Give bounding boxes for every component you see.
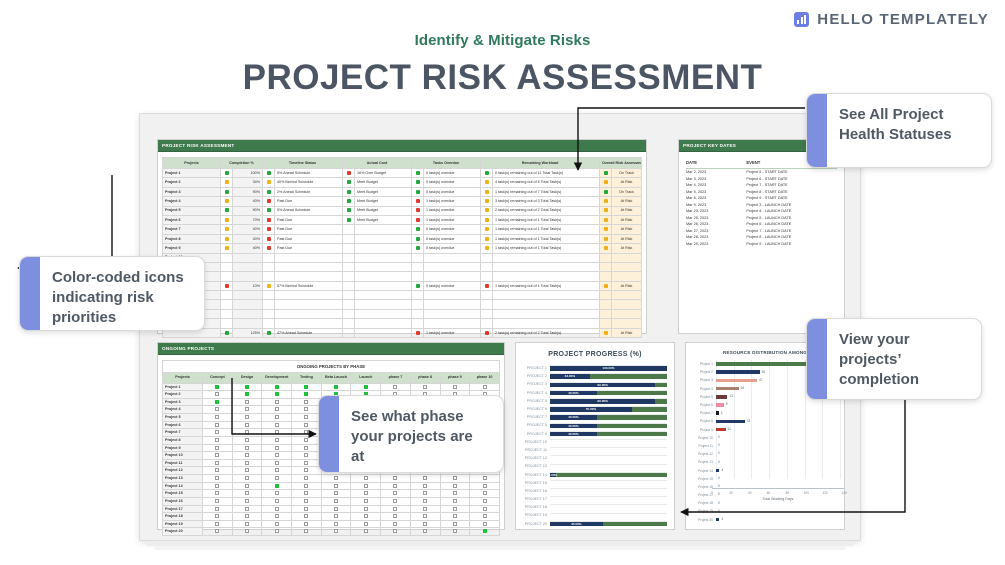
table-row[interactable]	[163, 300, 642, 309]
checkbox-icon[interactable]	[334, 522, 338, 526]
phase-checkbox-cell[interactable]	[262, 497, 292, 505]
phase-checkbox-cell[interactable]	[351, 383, 381, 391]
checkbox-icon[interactable]	[245, 476, 249, 480]
phase-checkbox-cell[interactable]	[440, 497, 470, 505]
checkbox-icon[interactable]	[215, 438, 219, 442]
phase-checkbox-cell[interactable]	[203, 482, 233, 490]
phase-checkbox-cell[interactable]	[410, 383, 440, 391]
phase-checkbox-cell[interactable]	[262, 459, 292, 467]
table-row[interactable]	[163, 291, 642, 300]
checkbox-icon[interactable]	[304, 529, 308, 533]
phase-checkbox-cell[interactable]	[262, 490, 292, 498]
checkbox-icon[interactable]	[215, 461, 219, 465]
phase-checkbox-cell[interactable]	[203, 497, 233, 505]
checkbox-icon[interactable]	[364, 385, 368, 389]
checkbox-icon[interactable]	[393, 507, 397, 511]
checkbox-icon[interactable]	[275, 385, 279, 389]
phase-checkbox-cell[interactable]	[321, 497, 351, 505]
checkbox-icon[interactable]	[393, 514, 397, 518]
phase-checkbox-cell[interactable]	[262, 513, 292, 521]
checkbox-icon[interactable]	[245, 400, 249, 404]
phase-checkbox-cell[interactable]	[351, 505, 381, 513]
phase-checkbox-cell[interactable]	[470, 482, 500, 490]
checkbox-icon[interactable]	[483, 507, 487, 511]
phase-checkbox-cell[interactable]	[232, 482, 262, 490]
checkbox-icon[interactable]	[215, 392, 219, 396]
table-row[interactable]: 125%47% Ahead Schedule1 task(s) overdue2…	[163, 328, 642, 337]
table-row[interactable]	[163, 272, 642, 281]
phase-checkbox-cell[interactable]	[232, 490, 262, 498]
phase-checkbox-cell[interactable]	[440, 383, 470, 391]
checkbox-icon[interactable]	[334, 507, 338, 511]
phase-checkbox-cell[interactable]	[470, 513, 500, 521]
checkbox-icon[interactable]	[275, 438, 279, 442]
phase-checkbox-cell[interactable]	[470, 383, 500, 391]
checkbox-icon[interactable]	[453, 491, 457, 495]
phase-checkbox-cell[interactable]	[262, 414, 292, 422]
table-row[interactable]: Project 440%Past DueMeet Budget1 task(s)…	[163, 197, 642, 206]
table-row[interactable]: Project 20	[163, 528, 500, 536]
phase-checkbox-cell[interactable]	[440, 505, 470, 513]
phase-checkbox-cell[interactable]	[410, 482, 440, 490]
checkbox-icon[interactable]	[334, 385, 338, 389]
phase-checkbox-cell[interactable]	[232, 436, 262, 444]
checkbox-icon[interactable]	[304, 461, 308, 465]
phase-checkbox-cell[interactable]	[232, 475, 262, 483]
cell-cost	[355, 309, 412, 318]
phase-checkbox-cell[interactable]	[381, 513, 411, 521]
phase-checkbox-cell[interactable]	[232, 452, 262, 460]
checkbox-icon[interactable]	[304, 476, 308, 480]
phase-checkbox-cell[interactable]	[232, 429, 262, 437]
phase-checkbox-cell[interactable]	[262, 528, 292, 536]
checkbox-icon[interactable]	[275, 468, 279, 472]
phase-checkbox-cell[interactable]	[321, 490, 351, 498]
checkbox-icon[interactable]	[275, 407, 279, 411]
checkbox-icon[interactable]	[334, 514, 338, 518]
cell-timeline: 57% Behind Schedule	[275, 281, 343, 290]
checkbox-icon[interactable]	[423, 484, 427, 488]
checkbox-icon[interactable]	[304, 484, 308, 488]
phase-checkbox-cell[interactable]	[321, 383, 351, 391]
table-row[interactable]: Project 670%Past DueMeet Budget1 task(s)…	[163, 215, 642, 224]
phase-checkbox-cell[interactable]	[262, 452, 292, 460]
phase-checkbox-cell[interactable]	[262, 406, 292, 414]
phase-checkbox-cell[interactable]	[381, 528, 411, 536]
table-row[interactable]: 10%57% Behind Schedule0 task(s) overdue1…	[163, 281, 642, 290]
checkbox-icon[interactable]	[275, 522, 279, 526]
checkbox-icon[interactable]	[423, 476, 427, 480]
phase-checkbox-cell[interactable]	[321, 505, 351, 513]
checkbox-icon[interactable]	[423, 491, 427, 495]
phase-checkbox-cell[interactable]	[440, 528, 470, 536]
phase-checkbox-cell[interactable]	[232, 444, 262, 452]
phase-checkbox-cell[interactable]	[203, 467, 233, 475]
phase-checkbox-cell[interactable]	[470, 475, 500, 483]
phase-checkbox-cell[interactable]	[440, 520, 470, 528]
checkbox-icon[interactable]	[423, 522, 427, 526]
table-row[interactable]: Project 10	[163, 253, 642, 262]
phase-checkbox-cell[interactable]	[292, 467, 322, 475]
phase-checkbox-cell[interactable]	[203, 429, 233, 437]
table-row[interactable]: Project 17	[163, 505, 500, 513]
checkbox-icon[interactable]	[215, 507, 219, 511]
checkbox-icon[interactable]	[304, 438, 308, 442]
phase-checkbox-cell[interactable]	[262, 421, 292, 429]
phase-checkbox-cell[interactable]	[232, 391, 262, 399]
checkbox-icon[interactable]	[215, 522, 219, 526]
phase-checkbox-cell[interactable]	[470, 520, 500, 528]
checkbox-icon[interactable]	[275, 430, 279, 434]
checkbox-icon[interactable]	[215, 415, 219, 419]
phase-checkbox-cell[interactable]	[203, 383, 233, 391]
phase-checkbox-cell[interactable]	[292, 505, 322, 513]
table-row[interactable]: Project 15	[163, 490, 500, 498]
checkbox-icon[interactable]	[453, 499, 457, 503]
phase-checkbox-cell[interactable]	[351, 475, 381, 483]
callout-completion: View your projects’ completion	[806, 318, 982, 400]
checkbox-icon[interactable]	[304, 446, 308, 450]
phase-checkbox-cell[interactable]	[232, 421, 262, 429]
table-row[interactable]: Project 18	[163, 513, 500, 521]
phase-checkbox-cell[interactable]	[292, 490, 322, 498]
checkbox-icon[interactable]	[483, 514, 487, 518]
checkbox-icon[interactable]	[245, 453, 249, 457]
phase-checkbox-cell[interactable]	[262, 475, 292, 483]
table-row[interactable]: Project 13	[163, 475, 500, 483]
checkbox-icon[interactable]	[453, 514, 457, 518]
checkbox-icon[interactable]	[275, 514, 279, 518]
phase-checkbox-cell[interactable]	[203, 528, 233, 536]
checkbox-icon[interactable]	[423, 514, 427, 518]
checkbox-icon[interactable]	[483, 491, 487, 495]
table-row[interactable]	[163, 319, 642, 328]
checkbox-icon[interactable]	[453, 507, 457, 511]
phase-checkbox-cell[interactable]	[410, 520, 440, 528]
checkbox-icon[interactable]	[215, 499, 219, 503]
checkbox-icon[interactable]	[275, 415, 279, 419]
phase-checkbox-cell[interactable]	[381, 475, 411, 483]
checkbox-icon[interactable]	[245, 461, 249, 465]
phase-checkbox-cell[interactable]	[321, 475, 351, 483]
ongoing-col-launch: Launch	[351, 372, 381, 383]
table-row[interactable]: Project 234%40% Behind ScheduleMeet Budg…	[163, 178, 642, 187]
table-row[interactable]: Project 590%5% Ahead ScheduleMeet Budget…	[163, 206, 642, 215]
checkbox-icon[interactable]	[304, 507, 308, 511]
checkbox-icon[interactable]	[304, 522, 308, 526]
checkbox-icon[interactable]	[483, 476, 487, 480]
phase-checkbox-cell[interactable]	[203, 436, 233, 444]
checkbox-icon[interactable]	[304, 499, 308, 503]
checkbox-icon[interactable]	[245, 468, 249, 472]
checkbox-icon[interactable]	[453, 484, 457, 488]
checkbox-icon[interactable]	[364, 484, 368, 488]
checkbox-icon[interactable]	[275, 499, 279, 503]
phase-checkbox-cell[interactable]	[410, 475, 440, 483]
table-row[interactable]: Project 1	[163, 383, 500, 391]
table-row[interactable]: Project 390%2% Ahead ScheduleMeet Budget…	[163, 187, 642, 196]
phase-checkbox-cell[interactable]	[470, 505, 500, 513]
checkbox-icon[interactable]	[215, 407, 219, 411]
checkbox-icon[interactable]	[275, 423, 279, 427]
phase-checkbox-cell[interactable]	[410, 490, 440, 498]
phase-checkbox-cell[interactable]	[440, 475, 470, 483]
table-row[interactable]: Project 16	[163, 497, 500, 505]
phase-checkbox-cell[interactable]	[203, 398, 233, 406]
checkbox-icon[interactable]	[245, 392, 249, 396]
checkbox-icon[interactable]	[423, 385, 427, 389]
checkbox-icon[interactable]	[245, 529, 249, 533]
checkbox-icon[interactable]	[334, 476, 338, 480]
table-row[interactable]: Project 11	[163, 262, 642, 271]
checkbox-icon[interactable]	[304, 415, 308, 419]
table-row[interactable]: Project 940%Past Due0 task(s) overdue1 t…	[163, 244, 642, 253]
phase-checkbox-cell[interactable]	[381, 520, 411, 528]
phase-checkbox-cell[interactable]	[203, 520, 233, 528]
checkbox-icon[interactable]	[304, 430, 308, 434]
phase-checkbox-cell[interactable]	[351, 497, 381, 505]
phase-checkbox-cell[interactable]	[292, 475, 322, 483]
phase-checkbox-cell[interactable]	[203, 444, 233, 452]
phase-checkbox-cell[interactable]	[203, 475, 233, 483]
checkbox-icon[interactable]	[275, 507, 279, 511]
table-row[interactable]: Project 14	[163, 482, 500, 490]
phase-checkbox-cell[interactable]	[262, 482, 292, 490]
checkbox-icon[interactable]	[304, 468, 308, 472]
checkbox-icon[interactable]	[483, 484, 487, 488]
checkbox-icon[interactable]	[245, 385, 249, 389]
phase-checkbox-cell[interactable]	[381, 497, 411, 505]
checkbox-icon[interactable]	[453, 476, 457, 480]
phase-checkbox-cell[interactable]	[351, 482, 381, 490]
checkbox-icon[interactable]	[364, 491, 368, 495]
checkbox-icon[interactable]	[275, 484, 279, 488]
checkbox-icon[interactable]	[364, 476, 368, 480]
phase-checkbox-cell[interactable]	[232, 459, 262, 467]
phase-checkbox-cell[interactable]	[203, 513, 233, 521]
checkbox-icon[interactable]	[245, 423, 249, 427]
checkbox-icon[interactable]	[364, 522, 368, 526]
phase-checkbox-cell[interactable]	[351, 513, 381, 521]
checkbox-icon[interactable]	[245, 430, 249, 434]
phase-checkbox-cell[interactable]	[292, 398, 322, 406]
phase-checkbox-cell[interactable]	[232, 383, 262, 391]
checkbox-icon[interactable]	[215, 430, 219, 434]
checkbox-icon[interactable]	[304, 453, 308, 457]
phase-checkbox-cell[interactable]	[470, 497, 500, 505]
checkbox-icon[interactable]	[334, 484, 338, 488]
checkbox-icon[interactable]	[423, 529, 427, 533]
checkbox-icon[interactable]	[304, 491, 308, 495]
phase-checkbox-cell[interactable]	[232, 398, 262, 406]
phase-checkbox-cell[interactable]	[351, 528, 381, 536]
table-row[interactable]: Project 1100%5% Ahead Schedule16% Over B…	[163, 169, 642, 178]
checkbox-icon[interactable]	[453, 385, 457, 389]
checkbox-icon[interactable]	[215, 484, 219, 488]
phase-checkbox-cell[interactable]	[262, 520, 292, 528]
checkbox-icon[interactable]	[423, 499, 427, 503]
checkbox-icon[interactable]	[245, 484, 249, 488]
checkbox-icon[interactable]	[245, 415, 249, 419]
checkbox-icon[interactable]	[453, 529, 457, 533]
phase-checkbox-cell[interactable]	[292, 436, 322, 444]
checkbox-icon[interactable]	[275, 476, 279, 480]
checkbox-icon[interactable]	[245, 522, 249, 526]
checkbox-icon[interactable]	[275, 392, 279, 396]
phase-checkbox-cell[interactable]	[203, 490, 233, 498]
checkbox-icon[interactable]	[304, 514, 308, 518]
checkbox-icon[interactable]	[215, 385, 219, 389]
phase-checkbox-cell[interactable]	[292, 421, 322, 429]
checkbox-icon[interactable]	[215, 514, 219, 518]
checkbox-icon[interactable]	[215, 400, 219, 404]
checkbox-icon[interactable]	[215, 476, 219, 480]
phase-checkbox-cell[interactable]	[381, 490, 411, 498]
phase-checkbox-cell[interactable]	[262, 429, 292, 437]
checkbox-icon[interactable]	[304, 392, 308, 396]
checkbox-icon[interactable]	[364, 499, 368, 503]
table-row[interactable]: Project 19	[163, 520, 500, 528]
phase-checkbox-cell[interactable]	[292, 406, 322, 414]
checkbox-icon[interactable]	[483, 499, 487, 503]
phase-checkbox-cell[interactable]	[410, 497, 440, 505]
phase-checkbox-cell[interactable]	[203, 421, 233, 429]
checkbox-icon[interactable]	[215, 468, 219, 472]
phase-checkbox-cell[interactable]	[232, 513, 262, 521]
phase-checkbox-cell[interactable]	[381, 482, 411, 490]
checkbox-icon[interactable]	[275, 446, 279, 450]
table-row[interactable]: Project 840%Past Due0 task(s) overdue1 t…	[163, 234, 642, 243]
checkbox-icon[interactable]	[245, 491, 249, 495]
checkbox-icon[interactable]	[334, 529, 338, 533]
checkbox-icon[interactable]	[215, 529, 219, 533]
phase-checkbox-cell[interactable]	[440, 513, 470, 521]
phase-checkbox-cell[interactable]	[292, 452, 322, 460]
phase-checkbox-cell[interactable]	[262, 505, 292, 513]
checkbox-icon[interactable]	[393, 484, 397, 488]
phase-checkbox-cell[interactable]	[232, 414, 262, 422]
checkbox-icon[interactable]	[304, 423, 308, 427]
phase-checkbox-cell[interactable]	[262, 436, 292, 444]
checkbox-icon[interactable]	[275, 461, 279, 465]
checkbox-icon[interactable]	[483, 385, 487, 389]
table-row[interactable]: Project 740%Past Due0 task(s) overdue1 t…	[163, 225, 642, 234]
checkbox-icon[interactable]	[334, 491, 338, 495]
phase-checkbox-cell[interactable]	[321, 520, 351, 528]
checkbox-icon[interactable]	[275, 491, 279, 495]
phase-checkbox-cell[interactable]	[381, 505, 411, 513]
phase-checkbox-cell[interactable]	[292, 444, 322, 452]
table-row[interactable]	[163, 309, 642, 318]
checkbox-icon[interactable]	[245, 438, 249, 442]
checkbox-icon[interactable]	[453, 522, 457, 526]
checkbox-icon[interactable]	[245, 514, 249, 518]
phase-checkbox-cell[interactable]	[232, 497, 262, 505]
phase-checkbox-cell[interactable]	[292, 520, 322, 528]
phase-checkbox-cell[interactable]	[203, 414, 233, 422]
phase-checkbox-cell[interactable]	[203, 406, 233, 414]
phase-checkbox-cell[interactable]	[262, 383, 292, 391]
phase-checkbox-cell[interactable]	[292, 513, 322, 521]
phase-checkbox-cell[interactable]	[321, 513, 351, 521]
checkbox-icon[interactable]	[393, 476, 397, 480]
checkbox-icon[interactable]	[334, 499, 338, 503]
checkbox-icon[interactable]	[215, 446, 219, 450]
checkbox-icon[interactable]	[275, 529, 279, 533]
phase-checkbox-cell[interactable]	[321, 528, 351, 536]
phase-checkbox-cell[interactable]	[470, 528, 500, 536]
checkbox-icon[interactable]	[304, 400, 308, 404]
phase-checkbox-cell[interactable]	[292, 383, 322, 391]
checkbox-icon[interactable]	[304, 407, 308, 411]
phase-checkbox-cell[interactable]	[410, 505, 440, 513]
checkbox-icon[interactable]	[393, 522, 397, 526]
phase-checkbox-cell[interactable]	[410, 513, 440, 521]
phase-checkbox-cell[interactable]	[292, 391, 322, 399]
checkbox-icon[interactable]	[215, 491, 219, 495]
checkbox-icon[interactable]	[393, 529, 397, 533]
phase-checkbox-cell[interactable]	[262, 467, 292, 475]
phase-checkbox-cell[interactable]	[232, 406, 262, 414]
checkbox-icon[interactable]	[393, 491, 397, 495]
checkbox-icon[interactable]	[275, 400, 279, 404]
checkbox-icon[interactable]	[393, 499, 397, 503]
checkbox-icon[interactable]	[304, 385, 308, 389]
phase-checkbox-cell[interactable]	[351, 520, 381, 528]
phase-checkbox-cell[interactable]	[381, 383, 411, 391]
phase-checkbox-cell[interactable]	[232, 520, 262, 528]
phase-checkbox-cell[interactable]	[232, 505, 262, 513]
checkbox-icon[interactable]	[215, 423, 219, 427]
checkbox-icon[interactable]	[423, 507, 427, 511]
phase-checkbox-cell[interactable]	[203, 452, 233, 460]
phase-checkbox-cell[interactable]	[351, 490, 381, 498]
phase-checkbox-cell[interactable]	[262, 398, 292, 406]
phase-checkbox-cell[interactable]	[292, 429, 322, 437]
checkbox-icon[interactable]	[483, 522, 487, 526]
phase-checkbox-cell[interactable]	[292, 414, 322, 422]
cell-workload: 1 task(s) remaining out of 1 Total Task(…	[493, 215, 600, 224]
phase-checkbox-cell[interactable]	[232, 467, 262, 475]
checkbox-icon[interactable]	[245, 499, 249, 503]
checkbox-icon[interactable]	[364, 514, 368, 518]
phase-checkbox-cell[interactable]	[262, 444, 292, 452]
phase-checkbox-cell[interactable]	[203, 505, 233, 513]
phase-checkbox-cell[interactable]	[440, 490, 470, 498]
phase-checkbox-cell[interactable]	[440, 482, 470, 490]
phase-checkbox-cell[interactable]	[232, 528, 262, 536]
phase-checkbox-cell[interactable]	[470, 490, 500, 498]
phase-checkbox-cell[interactable]	[292, 497, 322, 505]
checkbox-icon[interactable]	[393, 385, 397, 389]
phase-checkbox-cell[interactable]	[262, 391, 292, 399]
checkbox-icon[interactable]	[364, 529, 368, 533]
phase-checkbox-cell[interactable]	[292, 528, 322, 536]
phase-checkbox-cell[interactable]	[321, 482, 351, 490]
checkbox-icon[interactable]	[245, 407, 249, 411]
phase-checkbox-cell[interactable]	[292, 459, 322, 467]
phase-checkbox-cell[interactable]	[203, 459, 233, 467]
phase-checkbox-cell[interactable]	[292, 482, 322, 490]
checkbox-icon[interactable]	[215, 453, 219, 457]
checkbox-icon[interactable]	[364, 507, 368, 511]
checkbox-icon[interactable]	[275, 453, 279, 457]
checkbox-icon[interactable]	[245, 507, 249, 511]
phase-checkbox-cell[interactable]	[203, 391, 233, 399]
checkbox-icon[interactable]	[245, 446, 249, 450]
phase-checkbox-cell[interactable]	[410, 528, 440, 536]
checkbox-icon[interactable]	[483, 529, 487, 533]
